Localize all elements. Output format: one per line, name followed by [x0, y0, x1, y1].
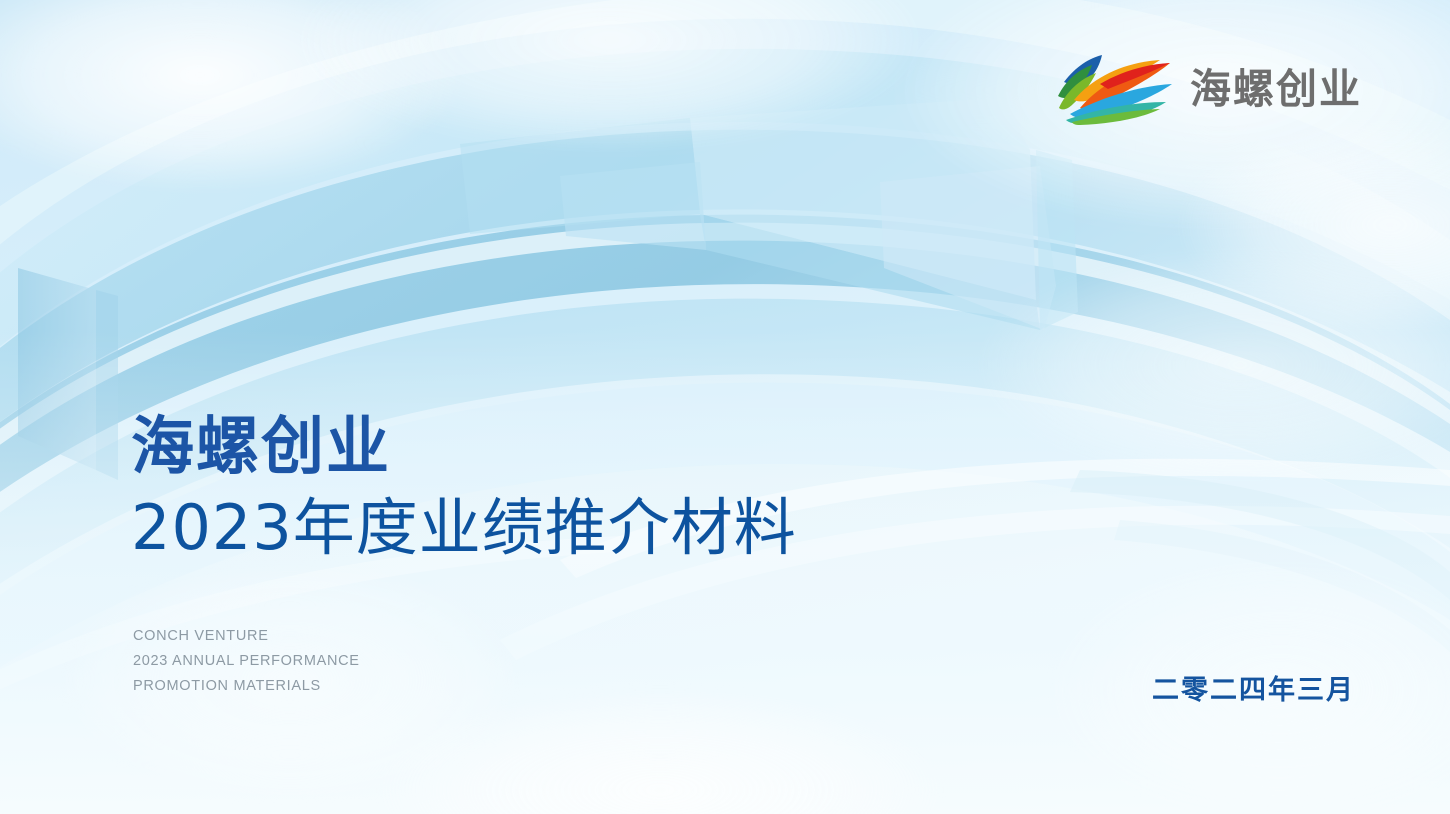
- slide-title-main: 海螺创业: [131, 413, 1031, 481]
- slide-date: 二零二四年三月: [1152, 668, 1355, 707]
- cloud-wisp: [0, 0, 460, 190]
- cloud-wisp: [380, 690, 940, 814]
- english-subtitle-block: CONCH VENTURE 2023 ANNUAL PERFORMANCE PR…: [133, 624, 360, 699]
- english-subtitle-line: 2023 ANNUAL PERFORMANCE: [133, 649, 360, 674]
- slide-title-subtitle: 2023年度业绩推介材料: [131, 491, 1031, 564]
- english-subtitle-line: CONCH VENTURE: [133, 624, 360, 649]
- brand-wordmark: 海螺创业: [1190, 69, 1362, 110]
- cloud-wisp: [980, 250, 1450, 480]
- presentation-cover-slide: 海螺创业 海螺创业 2023年度业绩推介材料 CONCH VENTURE 202…: [0, 0, 1450, 814]
- title-group: 海螺创业 2023年度业绩推介材料: [131, 413, 1031, 564]
- conch-venture-swoosh-logo-icon: [1056, 52, 1176, 126]
- cloud-wisp: [1180, 120, 1450, 330]
- brand-logo: 海螺创业: [1056, 52, 1362, 126]
- english-subtitle-line: PROMOTION MATERIALS: [133, 674, 360, 699]
- cloud-wisp: [300, 0, 920, 150]
